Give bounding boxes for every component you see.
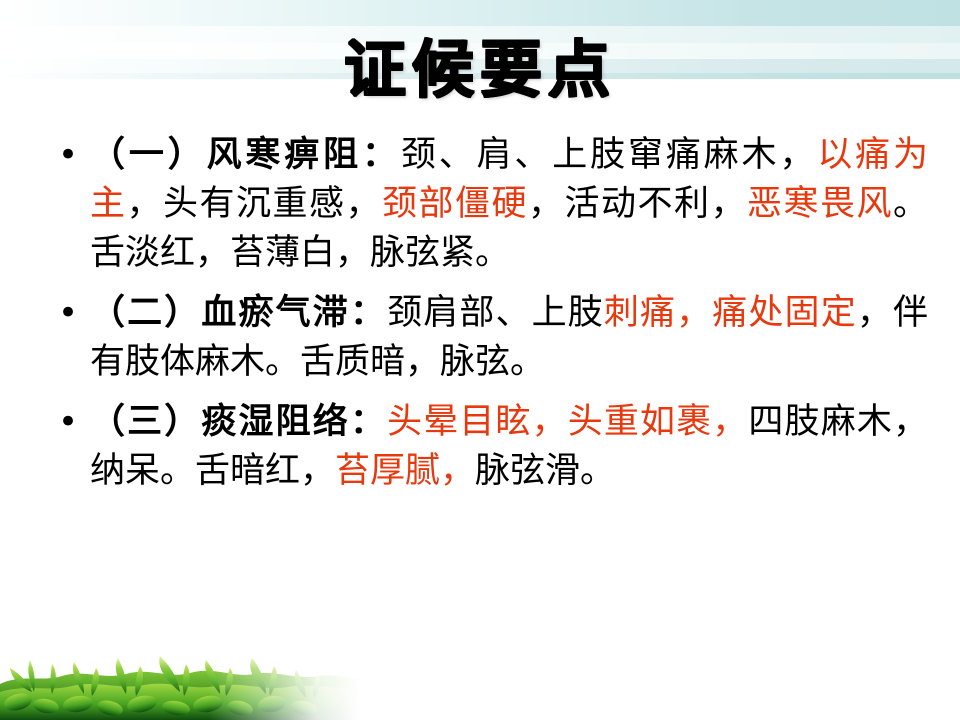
bullet-text-1: （一）风寒痹阻：颈、肩、上肢窜痛麻木，以痛为主，头有沉重感，颈部僵硬，活动不利，… <box>90 130 928 278</box>
bullet-item-2: • （二）血瘀气滞：颈肩部、上肢刺痛，痛处固定，伴有肢体麻木。舌质暗，脉弦。 <box>48 288 928 387</box>
bullet-marker-2: • <box>48 288 90 338</box>
leaf-fade-right <box>0 638 360 720</box>
bullet-heading-2: （二）血瘀气滞 <box>90 292 350 333</box>
leaf-decoration <box>0 638 360 720</box>
bullet-marker-3: • <box>48 397 90 447</box>
bullet-colon-2: ： <box>350 292 387 333</box>
bullet-seg-1-5: 恶寒畏风 <box>747 184 893 224</box>
bullet-seg-1-4: ，活动不利， <box>528 184 747 224</box>
bullet-seg-2-1: 刺痛，痛处固定 <box>604 293 857 333</box>
slide-title: 证候要点 <box>0 34 960 106</box>
bullet-marker-1: • <box>48 130 90 180</box>
bullet-colon-1: ： <box>362 134 401 175</box>
slide-body: • （一）风寒痹阻：颈、肩、上肢窜痛麻木，以痛为主，头有沉重感，颈部僵硬，活动不… <box>48 130 928 506</box>
bullet-seg-1-3: 颈部僵硬 <box>382 184 528 224</box>
bullet-colon-3: ： <box>350 401 387 442</box>
bullet-seg-3-3: 脉弦滑。 <box>475 451 615 491</box>
leaf-fade-top <box>0 638 360 668</box>
bullet-seg-3-0: 头晕目眩，头重如裹， <box>387 402 748 442</box>
bullet-seg-2-0: 颈肩部、上肢 <box>387 293 604 333</box>
header-band-1 <box>0 0 960 26</box>
bullet-heading-3: （三）痰湿阻络 <box>90 401 350 442</box>
bullet-item-3: • （三）痰湿阻络：头晕目眩，头重如裹，四肢麻木，纳呆。舌暗红，苔厚腻，脉弦滑。 <box>48 397 928 496</box>
bullet-seg-1-0: 颈、肩、上肢窜痛麻木， <box>401 135 817 175</box>
leaves-icon <box>0 638 360 720</box>
bullet-text-2: （二）血瘀气滞：颈肩部、上肢刺痛，痛处固定，伴有肢体麻木。舌质暗，脉弦。 <box>90 288 928 387</box>
slide-canvas: 证候要点 • （一）风寒痹阻：颈、肩、上肢窜痛麻木，以痛为主，头有沉重感，颈部僵… <box>0 0 960 720</box>
bullet-seg-3-2: 苔厚腻， <box>335 451 475 491</box>
bullet-seg-1-2: ，头有沉重感， <box>127 184 382 224</box>
bullet-item-1: • （一）风寒痹阻：颈、肩、上肢窜痛麻木，以痛为主，头有沉重感，颈部僵硬，活动不… <box>48 130 928 278</box>
bullet-heading-1: （一）风寒痹阻 <box>90 134 362 175</box>
bullet-text-3: （三）痰湿阻络：头晕目眩，头重如裹，四肢麻木，纳呆。舌暗红，苔厚腻，脉弦滑。 <box>90 397 928 496</box>
